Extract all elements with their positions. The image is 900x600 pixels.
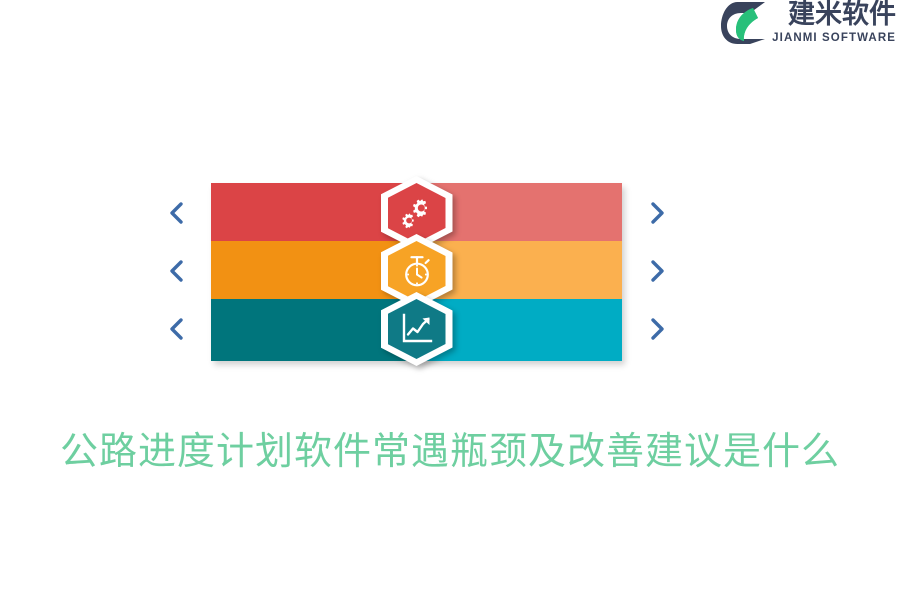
brand-name-en: JIANMI SOFTWARE (772, 33, 896, 45)
row-1-right-half (417, 183, 623, 241)
chevron-right-icon-row-2[interactable] (644, 256, 670, 286)
page-title: 公路进度计划软件常遇瓶颈及改善建议是什么 (0, 420, 900, 475)
infographic-bands (211, 183, 622, 361)
infographic-row-1 (211, 183, 622, 241)
brand-logo: 建米软件 JIANMI SOFTWARE (720, 0, 896, 50)
infographic-row-3 (211, 299, 622, 361)
chevron-left-icon-row-3[interactable] (164, 314, 190, 344)
chevron-right-icon-row-1[interactable] (644, 198, 670, 228)
infographic-row-2 (211, 241, 622, 299)
brand-wordmark: 建米软件 JIANMI SOFTWARE (772, 0, 896, 45)
chevron-left-icon-row-2[interactable] (164, 256, 190, 286)
row-3-left-half (211, 299, 417, 361)
row-1-left-half (211, 183, 417, 241)
row-2-right-half (417, 241, 623, 299)
brand-name-cn: 建米软件 (788, 1, 896, 28)
infographic-graphic (150, 183, 680, 363)
chevron-left-icon-row-1[interactable] (164, 198, 190, 228)
jianmi-swoosh-logo-icon (720, 0, 768, 46)
row-2-left-half (211, 241, 417, 299)
row-3-right-half (417, 299, 623, 361)
chevron-right-icon-row-3[interactable] (644, 314, 670, 344)
